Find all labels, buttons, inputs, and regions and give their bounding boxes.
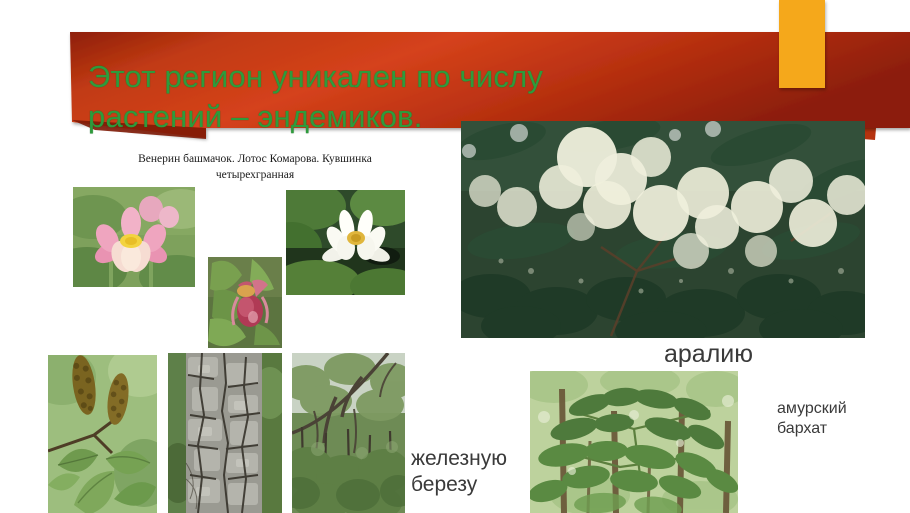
label-amur-cork: амурский бархат — [777, 399, 847, 438]
orange-accent-rectangle — [779, 0, 825, 88]
photo-amurcork — [530, 371, 738, 513]
waterlily-illustration — [286, 190, 405, 295]
aralia-illustration — [461, 121, 865, 338]
label-iron-birch: железную березу — [411, 446, 507, 497]
forest-illustration — [292, 353, 405, 513]
birch-illustration — [48, 355, 157, 513]
photo-lotus — [73, 187, 195, 287]
photo-ladyslipper — [208, 257, 282, 348]
bark-illustration — [168, 353, 282, 513]
label-aralia: аралию — [664, 339, 753, 370]
ladyslipper-illustration — [208, 257, 282, 348]
flowers-caption: Венерин башмачок. Лотос Комарова. Кувшин… — [105, 152, 405, 183]
presentation-slide: Этот регион уникален по числу растений –… — [0, 0, 910, 513]
lotus-illustration — [73, 187, 195, 287]
photo-bark — [168, 353, 282, 513]
photo-waterlily — [286, 190, 405, 295]
photo-aralia — [461, 121, 865, 338]
photo-forest — [292, 353, 405, 513]
amurcork-illustration — [530, 371, 738, 513]
photo-birch — [48, 355, 157, 513]
